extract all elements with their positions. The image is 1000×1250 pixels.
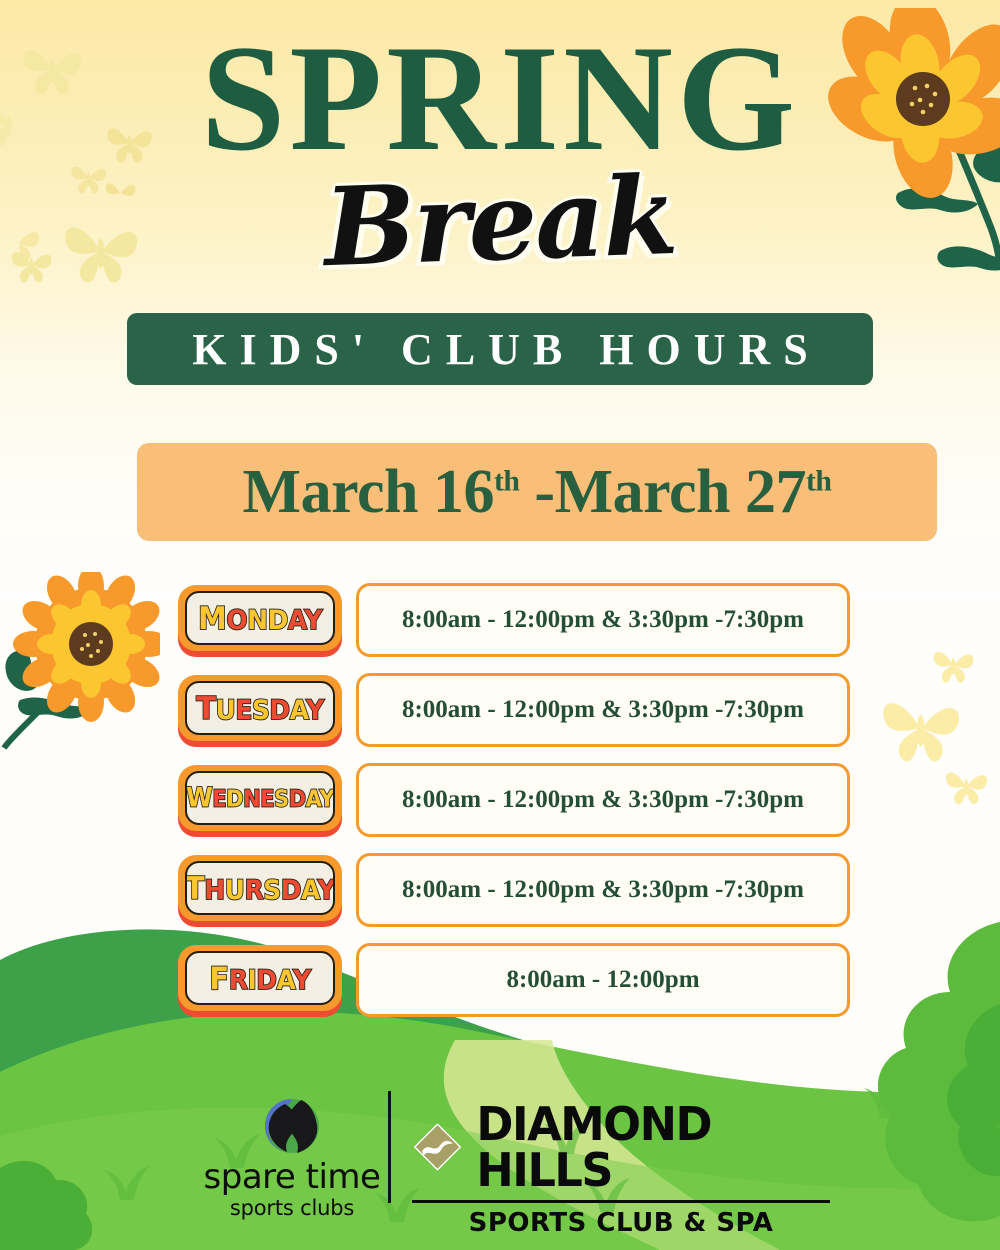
end-day: 27 — [745, 458, 806, 526]
diamond-hills-rule — [412, 1200, 830, 1203]
spare-time-s-mark-icon — [263, 1097, 321, 1155]
kids-club-hours-banner: KIDS' CLUB HOURS — [127, 313, 873, 385]
page-title: SPRING — [0, 22, 1000, 174]
day-badge-inner: WEDNESDAY — [185, 771, 335, 825]
hours-text: 8:00am - 12:00pm — [506, 966, 699, 994]
day-label: TUESDAY — [196, 692, 324, 723]
hours-text: 8:00am - 12:00pm & 3:30pm -7:30pm — [402, 606, 804, 634]
end-month: March — [555, 458, 730, 526]
schedule-row: FRIDAY 8:00am - 12:00pm — [0, 945, 1000, 1035]
schedule-row: WEDNESDAY 8:00am - 12:00pm & 3:30pm -7:3… — [0, 765, 1000, 855]
kids-club-hours-label: KIDS' CLUB HOURS — [179, 324, 821, 375]
hours-box: 8:00am - 12:00pm & 3:30pm -7:30pm — [356, 853, 850, 927]
spring-break-flyer: SPRING Break KIDS' CLUB HOURS March 16th… — [0, 0, 1000, 1250]
day-badge-wednesday[interactable]: WEDNESDAY — [178, 765, 342, 831]
diamond-hills-logo: DIAMOND HILLS SPORTS CLUB & SPA — [412, 1101, 832, 1238]
footer-divider — [388, 1091, 391, 1203]
day-badge-inner: FRIDAY — [185, 951, 335, 1005]
diamond-hills-subtitle: SPORTS CLUB & SPA — [412, 1208, 830, 1238]
day-badge-inner: TUESDAY — [185, 681, 335, 735]
hours-box: 8:00am - 12:00pm & 3:30pm -7:30pm — [356, 763, 850, 837]
day-badge-monday[interactable]: MONDAY — [178, 585, 342, 651]
day-badge-friday[interactable]: FRIDAY — [178, 945, 342, 1011]
spare-time-name: spare time — [196, 1160, 388, 1196]
schedule-row: MONDAY 8:00am - 12:00pm & 3:30pm -7:30pm — [0, 585, 1000, 675]
diamond-hills-name: DIAMOND HILLS — [476, 1101, 826, 1193]
hours-box: 8:00am - 12:00pm & 3:30pm -7:30pm — [356, 673, 850, 747]
start-month: March — [243, 458, 418, 526]
day-badge-inner: THURSDAY — [185, 861, 335, 915]
date-separator: - — [519, 458, 554, 526]
start-day: 16 — [433, 458, 494, 526]
day-badge-thursday[interactable]: THURSDAY — [178, 855, 342, 921]
hours-box: 8:00am - 12:00pm — [356, 943, 850, 1017]
day-badge-tuesday[interactable]: TUESDAY — [178, 675, 342, 741]
day-label: MONDAY — [198, 602, 322, 633]
date-range-text: March 16th -March 27th — [243, 457, 832, 528]
hours-box: 8:00am - 12:00pm & 3:30pm -7:30pm — [356, 583, 850, 657]
spare-time-tagline: sports clubs — [196, 1196, 388, 1221]
schedule-row: THURSDAY 8:00am - 12:00pm & 3:30pm -7:30… — [0, 855, 1000, 945]
date-range-banner: March 16th -March 27th — [137, 443, 937, 541]
diamond-wave-mark-icon — [412, 1119, 463, 1175]
day-label: WEDNESDAY — [186, 785, 334, 811]
schedule-list: MONDAY 8:00am - 12:00pm & 3:30pm -7:30pm… — [0, 585, 1000, 1035]
spare-time-logo: spare time sports clubs — [196, 1097, 388, 1221]
day-label: FRIDAY — [209, 962, 310, 993]
schedule-row: TUESDAY 8:00am - 12:00pm & 3:30pm -7:30p… — [0, 675, 1000, 765]
end-suffix: th — [806, 464, 831, 497]
hours-text: 8:00am - 12:00pm & 3:30pm -7:30pm — [402, 786, 804, 814]
hours-text: 8:00am - 12:00pm & 3:30pm -7:30pm — [402, 696, 804, 724]
day-label: THURSDAY — [185, 872, 335, 903]
hours-text: 8:00am - 12:00pm & 3:30pm -7:30pm — [402, 876, 804, 904]
footer-logos: spare time sports clubs DIAMOND HILLS SP… — [0, 1085, 1000, 1215]
day-badge-inner: MONDAY — [185, 591, 335, 645]
start-suffix: th — [494, 464, 519, 497]
